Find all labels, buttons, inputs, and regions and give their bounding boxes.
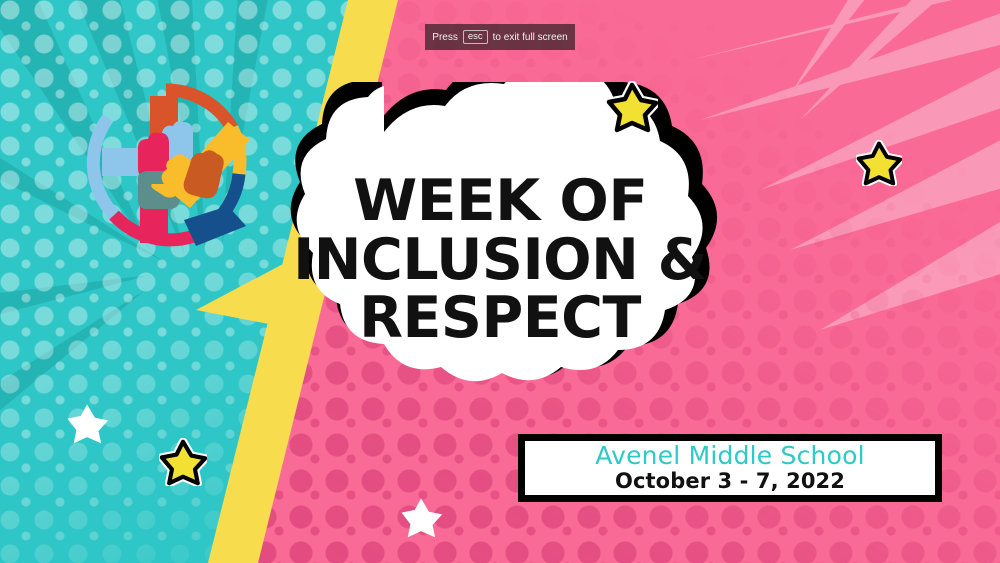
speech-bubble-title: WEEK OF INCLUSION & RESPECT (232, 82, 768, 432)
esc-key-badge[interactable]: esc (463, 30, 488, 44)
event-dates: October 3 - 7, 2022 (615, 470, 845, 493)
slide-canvas: WEEK OF INCLUSION & RESPECT Avenel Middl… (0, 0, 1000, 563)
speech-bubble: WEEK OF INCLUSION & RESPECT (232, 82, 768, 432)
esc-banner-prefix: Press (432, 32, 458, 43)
title-line-3: RESPECT (359, 292, 641, 344)
title-line-2: INCLUSION & (293, 234, 707, 286)
event-info-box: Avenel Middle School October 3 - 7, 2022 (518, 434, 942, 502)
exit-fullscreen-banner: Press esc to exit full screen (425, 24, 575, 50)
unity-hands-circle-logo (78, 78, 254, 254)
esc-banner-suffix: to exit full screen (493, 32, 568, 43)
school-name: Avenel Middle School (595, 443, 864, 469)
title-line-1: WEEK OF (353, 175, 647, 227)
